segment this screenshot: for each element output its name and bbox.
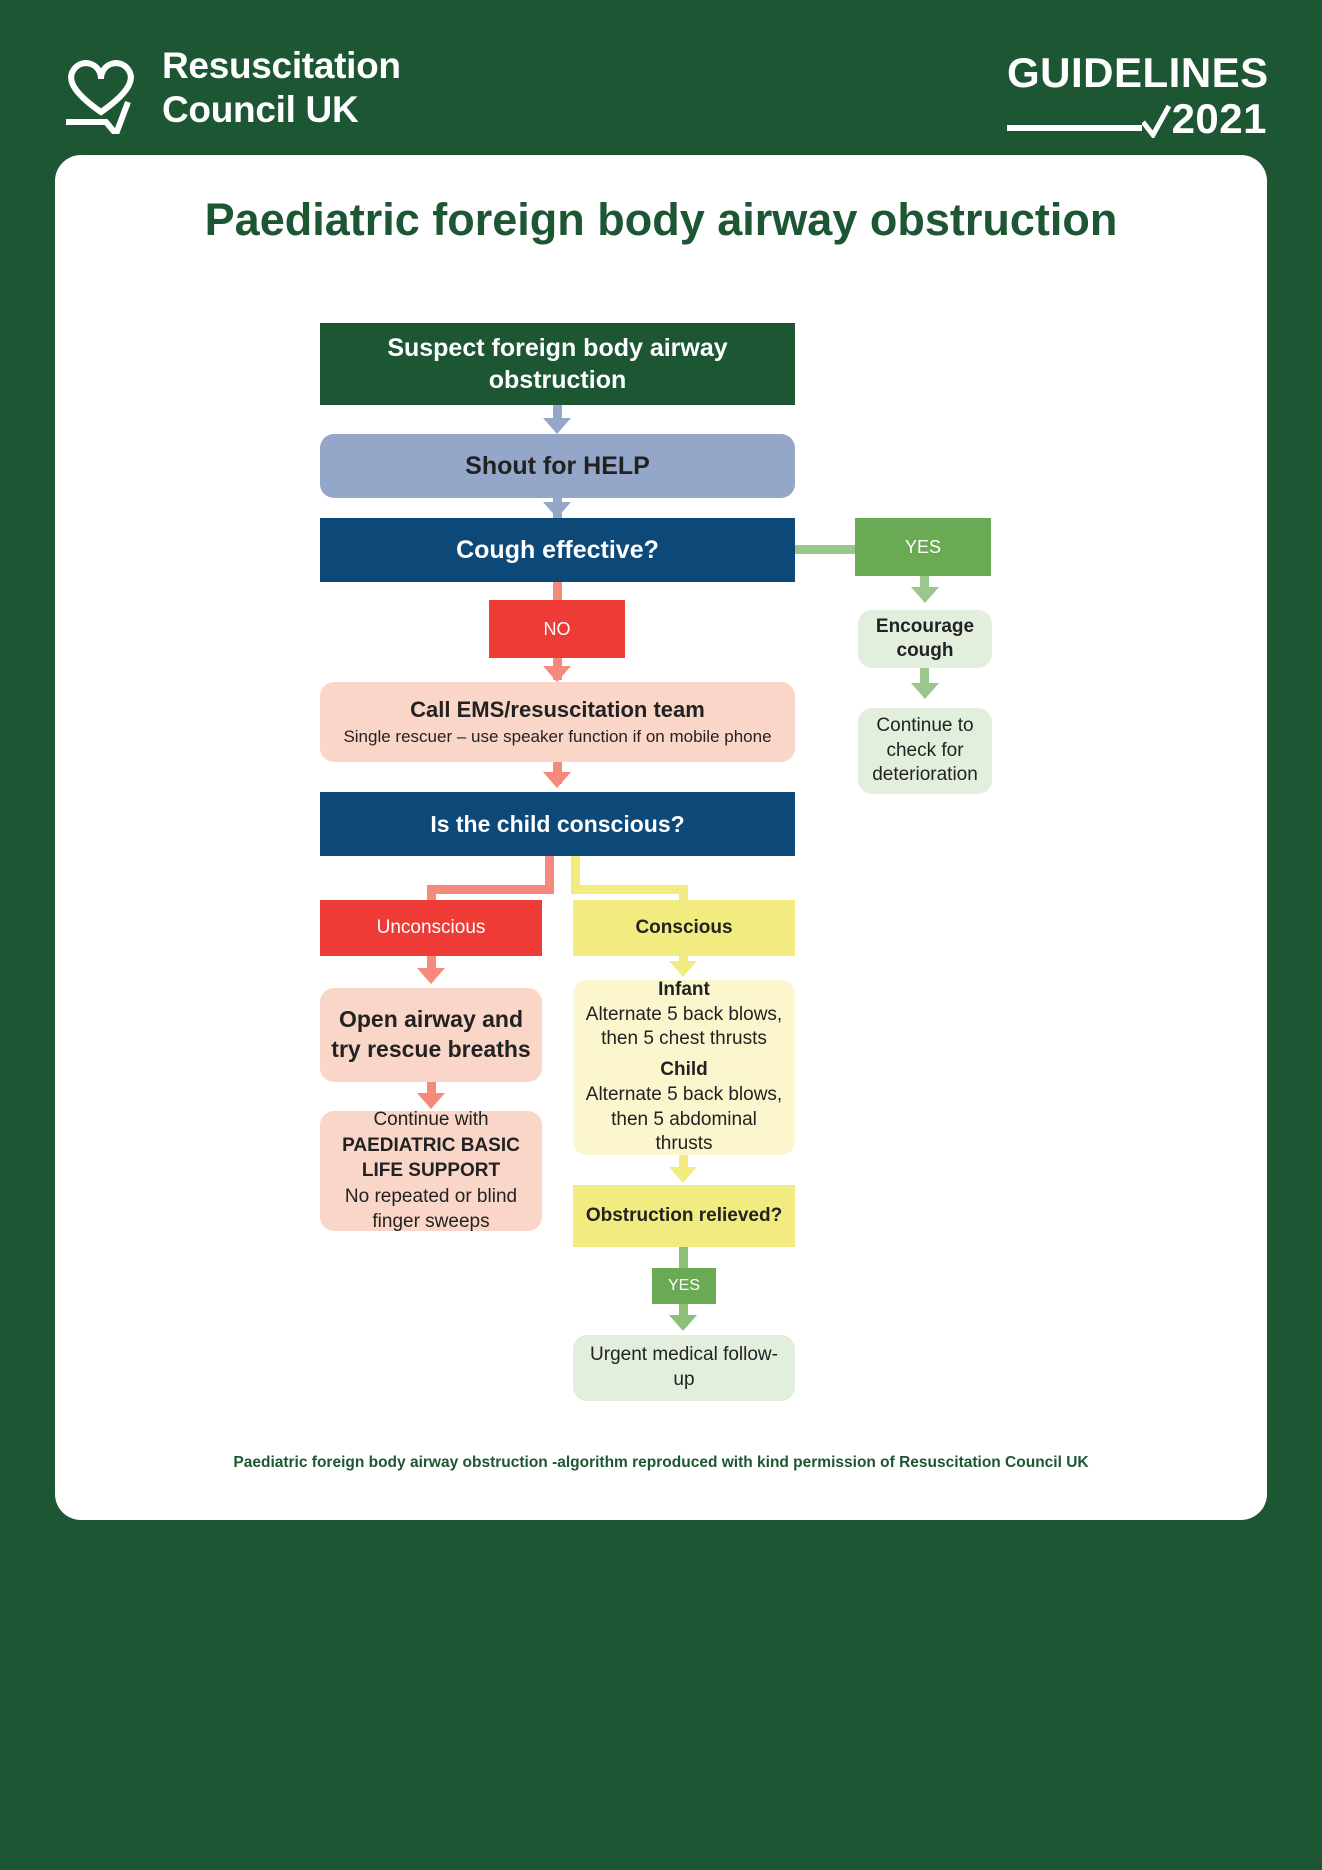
org-name: Resuscitation Council UK [162, 44, 401, 131]
node-continue-check-deterioration: Continue to check for deterioration [858, 708, 992, 794]
node-call-ems-subtitle: Single rescuer – use speaker function if… [343, 726, 771, 749]
node-is-child-conscious-question: Is the child conscious? [320, 792, 795, 856]
node-infant-text: Alternate 5 back blows, then 5 chest thr… [583, 1003, 785, 1052]
footer-attribution: Paediatric foreign body airway obstructi… [55, 1454, 1267, 1472]
badge-unconscious: Unconscious [320, 900, 542, 956]
node-infant-heading: Infant [658, 978, 710, 1003]
arrowhead-no-to-ems [543, 666, 571, 682]
arrowhead-infant-child-to-obstruction [669, 1167, 697, 1183]
node-encourage-cough: Encourage cough [858, 610, 992, 668]
node-child-text: Alternate 5 back blows, then 5 abdominal… [583, 1083, 785, 1157]
guidelines-word: GUIDELINES [1007, 52, 1267, 94]
connector-conscious-q-right [571, 885, 688, 894]
arrowhead-conscious-to-infant-child [669, 961, 697, 977]
arrowhead-yes-to-urgent [669, 1315, 697, 1331]
poster-header: Resuscitation Council UK GUIDELINES 2021 [0, 0, 1322, 180]
checkmark-icon [1142, 104, 1172, 138]
node-pbls-line3: No repeated or blind finger sweeps [330, 1184, 532, 1235]
content-card: Paediatric foreign body airway obstructi… [55, 155, 1267, 1520]
poster-root: Resuscitation Council UK GUIDELINES 2021… [0, 0, 1322, 1870]
guidelines-badge: GUIDELINES 2021 [1007, 52, 1267, 140]
node-suspect-fbao: Suspect foreign body airway obstruction [320, 323, 795, 405]
connector-cough-to-no [553, 582, 562, 602]
guidelines-year: 2021 [1172, 98, 1267, 140]
node-open-airway-rescue-breaths: Open airway and try rescue breaths [320, 988, 542, 1082]
connector-cough-to-yes [795, 545, 855, 554]
node-shout-for-help: Shout for HELP [320, 434, 795, 498]
arrowhead-unconscious-to-open-airway [417, 968, 445, 984]
arrowhead-encourage-to-continue [911, 683, 939, 699]
page-title: Paediatric foreign body airway obstructi… [55, 193, 1267, 246]
arrowhead-shout-to-cough [543, 502, 571, 518]
node-urgent-medical-followup: Urgent medical follow-up [573, 1335, 795, 1401]
node-call-ems-title: Call EMS/resuscitation team [410, 695, 705, 725]
arrowhead-ems-to-conscious-q [543, 772, 571, 788]
node-pbls-line2: PAEDIATRIC BASIC LIFE SUPPORT [330, 1133, 532, 1184]
org-name-line2: Council UK [162, 89, 358, 130]
badge-no-cough-ineffective: NO [489, 600, 625, 658]
node-cough-effective-question: Cough effective? [320, 518, 795, 582]
node-obstruction-relieved-question: Obstruction relieved? [573, 1185, 795, 1247]
node-pbls-line1: Continue with [373, 1107, 488, 1133]
guidelines-rule [1007, 125, 1142, 131]
badge-yes-obstruction-relieved: YES [652, 1268, 716, 1304]
arrowhead-suspect-to-shout [543, 418, 571, 434]
connector-obstruction-to-yes [679, 1247, 688, 1269]
node-continue-pbls: Continue with PAEDIATRIC BASIC LIFE SUPP… [320, 1111, 542, 1231]
connector-conscious-q-left [427, 885, 554, 894]
org-name-line1: Resuscitation [162, 45, 401, 86]
heart-ecg-icon [62, 42, 140, 134]
org-logo: Resuscitation Council UK [62, 42, 401, 134]
node-child-heading: Child [660, 1058, 708, 1083]
node-call-ems: Call EMS/resuscitation team Single rescu… [320, 682, 795, 762]
badge-yes-cough-effective: YES [855, 518, 991, 576]
arrowhead-yes-to-encourage [911, 587, 939, 603]
node-infant-child-instructions: Infant Alternate 5 back blows, then 5 ch… [573, 980, 795, 1155]
badge-conscious: Conscious [573, 900, 795, 956]
